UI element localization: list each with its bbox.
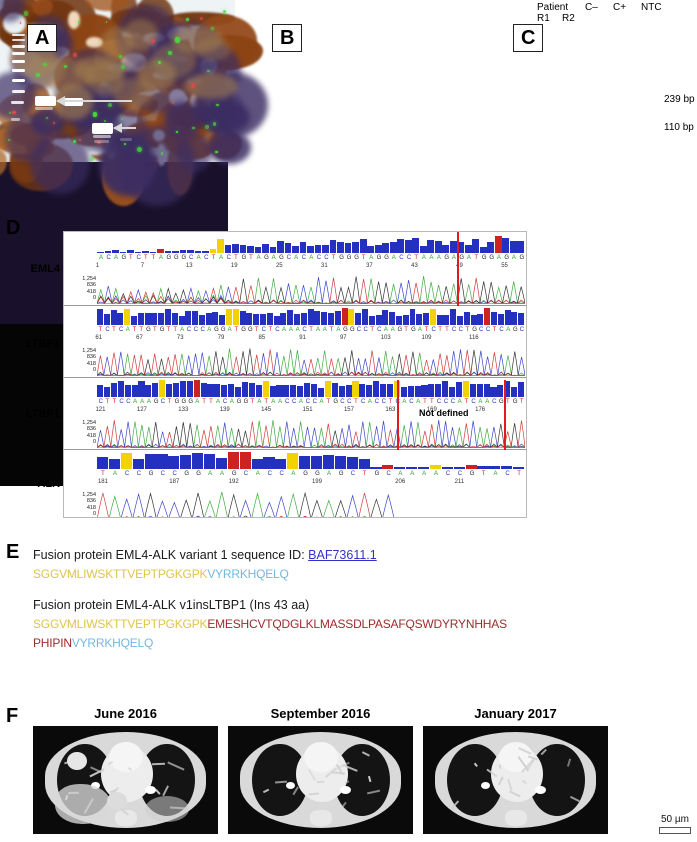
gel-header-ntc: NTC [641, 2, 662, 13]
ct-scan-january-2017 [423, 726, 608, 834]
variant1-title: Fusion protein EML4-ALK variant 1 sequen… [33, 545, 673, 565]
gel-lane-headers: Patient R1 R2 C– C+ NTC [513, 0, 697, 24]
base-letters-ltbp1-1: TCTCATTGTGTTACCCAGGATGGTCTCAAACTAATAGGCC… [97, 325, 525, 335]
v1ins-eml4-segment: SGGVMLIWSKTTVEPTPGKGPK [33, 617, 207, 631]
panel-label-c: C [513, 24, 543, 52]
gel-header-cneg: C– [585, 2, 598, 13]
accession-link[interactable]: BAF73611.1 [308, 548, 377, 562]
chrom-row-label-ltbp1-1: LTBP1 [0, 338, 60, 350]
variant1-title-text: Fusion protein EML4-ALK variant 1 sequen… [33, 548, 308, 562]
y-axis-ltbp1-1: 1,254 836 418 0 [66, 348, 96, 374]
v1ins-sequence-line2: PHIPINVYRRKHQELQ [33, 634, 673, 653]
variant1-sequence: SGGVMLIWSKTTVEPTPGKGPKVYRRKHQELQ [33, 565, 673, 584]
chrom-row-label-ltbp1-2: LTBP1 [0, 408, 60, 420]
base-quality-bars-alk [97, 452, 525, 469]
base-ticks-ltbp1-1: 61677379859197103109116 [97, 335, 525, 344]
base-letters-eml4: ACAGTCTTAGGGCACTACTGTAGAGCACACCTGGGTAGGA… [97, 253, 525, 263]
gel-header-cpos: C+ [613, 2, 626, 13]
breakpoint-line-eml4 [457, 231, 459, 306]
v1ins-sequence-line1: SGGVMLIWSKTTVEPTPGKGPKEMESHCVTQDGLKLMASS… [33, 615, 673, 634]
panel-d-chromatograms: ACAGTCTTAGGGCACTACTGTAGAGCACACCTGGGTAGGA… [63, 231, 527, 518]
base-ticks-alk: 181187192199206211 [97, 479, 525, 488]
base-letters-alk: TACCGCCGGAAGCACCAGGAGCTGCAAAACCGTACT [97, 469, 525, 479]
v1ins-ltbp1-segment-2: PHIPIN [33, 636, 72, 650]
breakpoint-line-ltbp1-end [504, 380, 506, 450]
panel-label-a: A [27, 24, 57, 52]
variant1-eml4-segment: SGGVMLIWSKTTVEPTPGKGPK [33, 567, 207, 581]
y-axis-alk: 1,254 836 418 0 [66, 492, 96, 518]
breakpoint-line-ltbp1-start [397, 380, 399, 450]
panel-label-d: D [6, 218, 20, 238]
panel-label-b: B [272, 24, 302, 52]
gel-header-r2: R2 [562, 13, 575, 24]
ct-title-january-2017: January 2017 [423, 706, 608, 721]
trace-ltbp1-2 [97, 418, 525, 448]
gel-header-r1: R1 [537, 13, 550, 24]
base-quality-bars-ltbp1-1 [97, 308, 525, 325]
y-axis-ltbp1-2: 1,254 836 418 0 [66, 420, 96, 446]
trace-eml4 [97, 274, 525, 304]
panel-e-protein-sequences: Fusion protein EML4-ALK variant 1 sequen… [33, 545, 673, 653]
panel-label-f: F [6, 706, 18, 726]
base-letters-ltbp1-2: CTTCCAAAGCTGGGATTACAGGTATAACCACCATGCCTCA… [97, 397, 525, 407]
band-label-110bp: 110 bp [664, 122, 694, 133]
base-quality-bars-eml4 [97, 236, 525, 253]
panel-label-e: E [6, 542, 19, 562]
ct-title-june-2016: June 2016 [33, 706, 218, 721]
chrom-row-label-eml4: EML4 [0, 263, 60, 275]
band-label-239bp: 239 bp [664, 94, 695, 105]
trace-alk [97, 490, 525, 518]
gel-header-patient: Patient [537, 2, 568, 13]
ct-scan-september-2016 [228, 726, 413, 834]
v1ins-alk-segment: VYRRKHQELQ [72, 636, 153, 650]
v1ins-title: Fusion protein EML4-ALK v1insLTBP1 (Ins … [33, 595, 673, 615]
v1ins-ltbp1-segment-1: EMESHCVTQDGLKLMASSDLPASAFQSWDYRYNHHAS [207, 617, 507, 631]
chrom-row-label-alk: ALK [0, 478, 60, 490]
not-defined-annotation: Not defined [419, 408, 469, 418]
ct-scan-june-2016 [33, 726, 218, 834]
trace-ltbp1-1 [97, 346, 525, 376]
variant1-alk-segment: VYRRKHQELQ [207, 567, 288, 581]
y-axis-eml4: 1,254 836 418 0 [66, 276, 96, 302]
ct-title-september-2016: September 2016 [228, 706, 413, 721]
base-quality-bars-ltbp1-2 [97, 380, 525, 397]
base-ticks-eml4: 171319253137434955 [97, 263, 525, 272]
